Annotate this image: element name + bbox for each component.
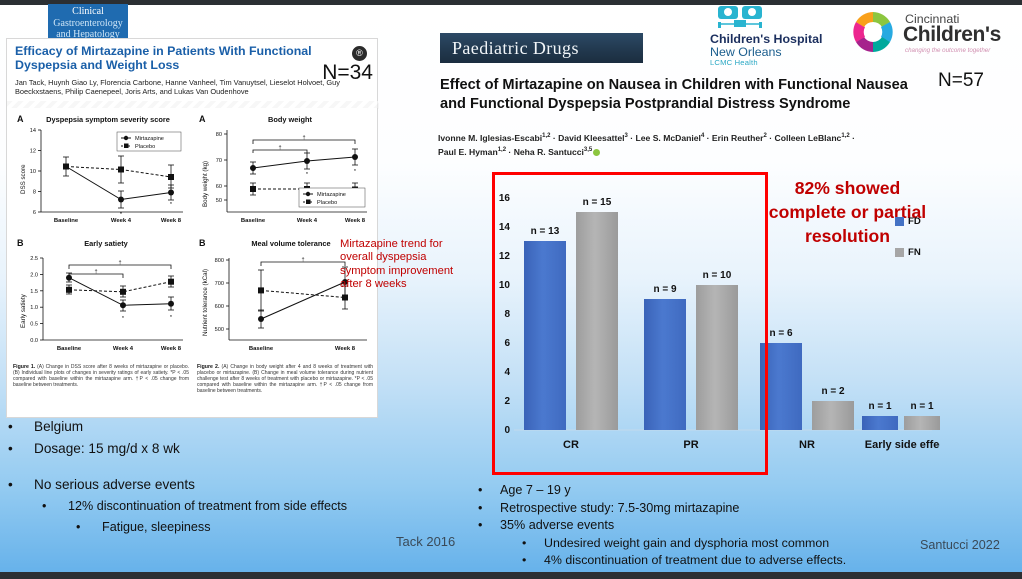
childrens-hospital-new-orleans-logo: Children's Hospital New Orleans LCMC Hea… xyxy=(710,4,822,64)
svg-text:*: * xyxy=(170,202,173,208)
bullet-dot-icon: • xyxy=(8,438,34,460)
slide-canvas: Clinical Gastroenterology and Hepatology… xyxy=(0,0,1022,579)
svg-text:Placebo: Placebo xyxy=(135,144,155,150)
svg-text:n = 6: n = 6 xyxy=(769,328,793,339)
svg-text:6: 6 xyxy=(33,210,36,216)
svg-text:Week 4: Week 4 xyxy=(297,218,318,224)
author-sup: 2 xyxy=(764,133,767,139)
author-name: Paul E. Hyman xyxy=(438,147,498,157)
author-name: Ivonne M. Iglesias-Escabi xyxy=(438,133,542,143)
list-item: •Dosage: 15 mg/d x 8 wk xyxy=(8,438,478,460)
list-item: •Retrospective study: 7.5-30mg mirtazapi… xyxy=(478,500,1022,518)
svg-text:Mirtazapine: Mirtazapine xyxy=(317,192,346,198)
right-citation: Santucci 2022 xyxy=(920,538,1000,552)
right-bullet-list: •Age 7 – 19 y •Retrospective study: 7.5-… xyxy=(478,482,1022,570)
bar-ese-fn xyxy=(904,416,940,430)
svg-text:8: 8 xyxy=(33,190,36,196)
svg-text:Week 4: Week 4 xyxy=(113,346,134,352)
journal-title-card: Efficacy of Mirtazapine in Patients With… xyxy=(6,38,378,100)
list-item: •No serious adverse events xyxy=(8,474,478,496)
legend-label-fd: FD xyxy=(908,216,921,227)
author-sup: 1,2 xyxy=(498,147,506,153)
svg-text:1.0: 1.0 xyxy=(30,305,38,311)
study-title: Effect of Mirtazapine on Nausea in Child… xyxy=(440,76,910,114)
svg-text:Early side effects: Early side effects xyxy=(865,439,940,451)
svg-text:60: 60 xyxy=(216,184,222,190)
svg-text:2.0: 2.0 xyxy=(30,272,38,278)
bullet-dot-icon: • xyxy=(76,517,102,538)
legend-item-fn: FN xyxy=(895,247,921,258)
figure-1b-plot: 2.5 2.0 1.5 1.0 0.5 0.0 xyxy=(11,236,193,364)
bullet-dot-icon: • xyxy=(478,500,500,518)
journal-article-card: Clinical Gastroenterology and Hepatology… xyxy=(6,4,378,418)
legend-swatch-fn xyxy=(895,248,904,257)
journal-article-authors: Jan Tack, Huynh Giao Ly, Florencia Carbo… xyxy=(15,78,345,97)
list-item: •35% adverse events xyxy=(478,517,1022,535)
figure-1a: A Dyspepsia symptom severity score DSS s… xyxy=(11,112,193,234)
figure-1-caption-text: (A) Change in DSS score after 8 weeks of… xyxy=(13,364,189,388)
bullet-dot-icon: • xyxy=(522,552,544,570)
svg-text:12: 12 xyxy=(30,149,36,155)
svg-text:Mirtazapine: Mirtazapine xyxy=(135,136,164,142)
chno-line3: LCMC Health xyxy=(710,58,758,67)
bar-ese-fd xyxy=(862,416,898,430)
list-item: •Belgium xyxy=(8,416,478,438)
author-name: Colleen LeBlanc xyxy=(774,133,841,143)
svg-text:*: * xyxy=(122,316,125,322)
svg-text:1.5: 1.5 xyxy=(30,289,38,295)
svg-text:Baseline: Baseline xyxy=(241,218,266,224)
registered-mark-icon: ® xyxy=(352,46,367,61)
svg-text:80: 80 xyxy=(216,132,222,138)
childrens-hospital-mark-icon xyxy=(712,4,772,30)
bullet-text: Retrospective study: 7.5-30mg mirtazapin… xyxy=(500,500,739,518)
bullet-text: 35% adverse events xyxy=(500,517,614,535)
svg-text:†: † xyxy=(302,135,305,141)
svg-text:†: † xyxy=(94,269,97,275)
svg-text:n = 1: n = 1 xyxy=(868,401,892,412)
author-name: Lee S. McDaniel xyxy=(636,133,701,143)
bullet-dot-icon: • xyxy=(8,416,34,438)
bullet-text: 12% discontinuation of treatment from si… xyxy=(68,496,347,517)
bullet-text: Undesired weight gain and dysphoria most… xyxy=(544,535,829,553)
svg-text:Baseline: Baseline xyxy=(249,346,274,352)
author-name: David Kleesattel xyxy=(558,133,624,143)
svg-text:Week 8: Week 8 xyxy=(161,346,182,352)
svg-text:†: † xyxy=(118,260,121,266)
study-authors: Ivonne M. Iglesias-Escabi1,2 · David Kle… xyxy=(438,130,898,159)
svg-text:50: 50 xyxy=(216,198,222,204)
svg-text:10: 10 xyxy=(30,169,36,175)
chno-line1: Children's Hospital xyxy=(710,32,822,46)
orcid-icon xyxy=(593,149,600,156)
bullet-text: Dosage: 15 mg/d x 8 wk xyxy=(34,438,180,460)
figure-1-caption: Figure 1. (A) Change in DSS score after … xyxy=(13,364,189,388)
resolution-bar-chart: 16 14 12 10 8 6 4 2 0 n = 13 n = 15 n = … xyxy=(470,168,1022,484)
author-sup: 3 xyxy=(625,133,628,139)
cincinnati-childrens-logo: Cincinnati Children's changing the outco… xyxy=(845,4,1015,59)
left-sample-size: N=34 xyxy=(322,61,373,85)
author-name: Neha R. Santucci xyxy=(514,147,584,157)
svg-text:0.5: 0.5 xyxy=(30,322,38,328)
legend-swatch-fd xyxy=(895,217,904,226)
bullet-text: Belgium xyxy=(34,416,83,438)
svg-text:NR: NR xyxy=(799,439,815,451)
list-item: •Age 7 – 19 y xyxy=(478,482,1022,500)
chart-highlight-box xyxy=(492,172,768,475)
bar-nr-fn xyxy=(812,401,854,430)
journal-masthead: Clinical Gastroenterology and Hepatology xyxy=(48,4,128,41)
chart-legend: FD FN xyxy=(895,216,921,278)
bullet-dot-icon: • xyxy=(478,517,500,535)
svg-text:Placebo: Placebo xyxy=(317,200,337,206)
cincinnati-line2: Children's xyxy=(903,23,1001,47)
bullet-text: Fatigue, sleepiness xyxy=(102,517,211,538)
svg-text:700: 700 xyxy=(215,281,224,287)
journal-figure-panel: A Dyspepsia symptom severity score DSS s… xyxy=(6,108,378,418)
svg-text:n = 2: n = 2 xyxy=(821,386,845,397)
svg-text:Week 4: Week 4 xyxy=(111,218,132,224)
bullet-text: 4% discontinuation of treatment due to a… xyxy=(544,552,846,570)
svg-text:n = 1: n = 1 xyxy=(910,401,934,412)
red-annotation-mirtazapine-trend: Mirtazapine trend for overall dyspepsia … xyxy=(340,238,465,292)
svg-text:500: 500 xyxy=(215,327,224,333)
bullet-text: No serious adverse events xyxy=(34,474,195,496)
figure-2-caption: Figure 2. (A) Change in body weight afte… xyxy=(197,364,373,394)
svg-text:†: † xyxy=(301,257,304,263)
masthead-line1: Clinical xyxy=(48,6,128,18)
svg-text:Baseline: Baseline xyxy=(57,346,82,352)
chno-line2: New Orleans xyxy=(710,45,782,59)
bullet-dot-icon: • xyxy=(8,474,34,496)
author-sup: 1,2 xyxy=(542,133,550,139)
figure-2a: A Body weight Body weight (kg) 80 70 60 … xyxy=(195,112,377,234)
bullet-text: Age 7 – 19 y xyxy=(500,482,571,500)
masthead-line2: Gastroenterology xyxy=(48,18,128,30)
list-item: •4% discontinuation of treatment due to … xyxy=(478,552,1022,570)
journal-article-title: Efficacy of Mirtazapine in Patients With… xyxy=(15,44,320,72)
figure-1b: B Early satiety Early satiety 2.5 2.0 1.… xyxy=(11,236,193,364)
figure-1a-plot: 14 12 10 8 6 xyxy=(11,112,193,234)
svg-text:*: * xyxy=(306,172,309,178)
author-sup: 4 xyxy=(701,133,704,139)
svg-text:Week 8: Week 8 xyxy=(161,218,182,224)
svg-text:600: 600 xyxy=(215,304,224,310)
bullet-dot-icon: • xyxy=(522,535,544,553)
svg-text:2.5: 2.5 xyxy=(30,256,38,262)
figure-2-caption-text: (A) Change in body weight after 4 and 8 … xyxy=(197,364,373,394)
svg-text:Week 8: Week 8 xyxy=(335,346,356,352)
bullet-dot-icon: • xyxy=(42,496,68,517)
svg-text:800: 800 xyxy=(215,258,224,264)
svg-text:†: † xyxy=(278,145,281,151)
svg-text:*: * xyxy=(354,169,357,175)
svg-text:70: 70 xyxy=(216,158,222,164)
right-sample-size: N=57 xyxy=(938,70,984,92)
author-sup: 1,2 xyxy=(841,133,849,139)
cincinnati-pinwheel-icon xyxy=(845,6,901,58)
bullet-dot-icon: • xyxy=(478,482,500,500)
author-name: Erin Reuther xyxy=(712,133,764,143)
svg-text:Baseline: Baseline xyxy=(54,218,79,224)
paediatric-drugs-banner: Paediatric Drugs xyxy=(440,33,643,63)
left-bullet-list: •Belgium •Dosage: 15 mg/d x 8 wk •No ser… xyxy=(8,416,478,538)
frame-bottom-strip xyxy=(0,572,1022,579)
svg-text:14: 14 xyxy=(30,128,36,134)
svg-text:*: * xyxy=(170,315,173,321)
figure-2a-plot: 80 70 60 50 xyxy=(195,112,377,234)
cincinnati-tagline: changing the outcome together xyxy=(905,47,990,54)
legend-item-fd: FD xyxy=(895,216,921,227)
list-item: •12% discontinuation of treatment from s… xyxy=(8,496,478,517)
author-sup: 3,5 xyxy=(584,147,592,153)
legend-label-fn: FN xyxy=(908,247,921,258)
left-citation: Tack 2016 xyxy=(396,534,455,549)
svg-text:Week 8: Week 8 xyxy=(345,218,366,224)
svg-text:0.0: 0.0 xyxy=(30,338,38,344)
